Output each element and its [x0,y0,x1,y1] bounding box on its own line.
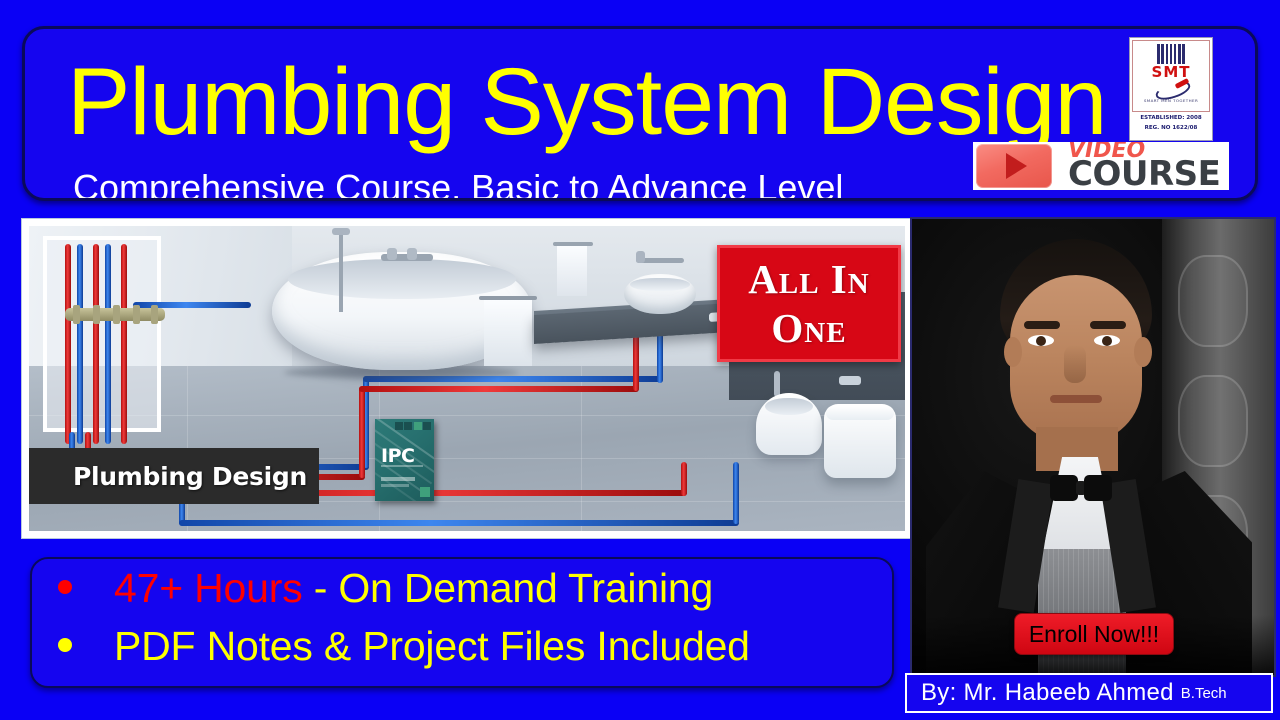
video-course-line2: COURSE [1068,159,1220,190]
bullet-dot-icon [58,580,72,594]
shower-head-icon [332,228,350,235]
sink-faucet [636,258,684,263]
smt-logo-inner: SMT SMART MEN TOGETHER [1132,40,1210,112]
feature-rest-2: PDF Notes & Project Files Included [114,623,750,669]
page-title: Plumbing System Design [67,55,1106,150]
plumbing-design-caption-text: Plumbing Design [73,462,307,491]
feature-highlight-1: 47+ Hours [114,565,303,611]
instructor-degree: B.Tech [1181,685,1227,702]
bullet-dot-icon [58,638,72,652]
play-icon [976,144,1052,188]
ipc-color-swatches [395,422,432,430]
enroll-now-button[interactable]: Enroll Now!!! [1014,613,1174,655]
bow-tie [1050,475,1112,501]
bidet [756,393,822,455]
instructor-name: By: Mr. Habeeb Ahmed [921,679,1174,707]
bidet-faucet [774,371,780,397]
features-panel: 47+ Hours - On Demand Training PDF Notes… [30,557,894,688]
smt-logo-established: ESTABLISHED: 2008 [1132,115,1210,122]
instructor-photo [910,217,1276,677]
vessel-sink [624,274,696,314]
toilet [824,404,896,478]
towel [484,300,532,366]
swoosh-icon [1149,81,1193,97]
smt-logo-registration: REG. NO 1622/08 [1132,125,1210,132]
header-panel: Plumbing System Design Comprehensive Cou… [22,26,1258,201]
list-item: PDF Notes & Project Files Included [58,623,892,681]
all-in-one-badge: All In One [717,245,901,362]
ipc-book-title: IPC [381,445,414,467]
ipc-book-cover: IPC [375,419,434,501]
manifold-bar [65,308,165,321]
barcode-icon [1151,44,1191,64]
feature-rest-1: - On Demand Training [303,565,714,611]
pipe-manifold-cabinet [43,236,161,432]
vanity-towel [557,246,587,296]
shower-pipe [339,234,343,312]
list-item: 47+ Hours - On Demand Training [58,565,892,623]
all-in-one-line1: All In [748,255,869,304]
smt-logo: SMT SMART MEN TOGETHER ESTABLISHED: 2008… [1129,37,1213,141]
feature-text-1: 47+ Hours - On Demand Training [114,565,713,612]
video-course-badge: VIDEO COURSE [973,142,1229,190]
video-course-text: VIDEO COURSE [1068,142,1220,190]
page-subtitle: Comprehensive Course, Basic to Advance L… [73,169,843,201]
smt-logo-tagline: SMART MEN TOGETHER [1144,98,1198,103]
all-in-one-line2: One [771,304,846,353]
ipc-publisher-logo [420,487,430,497]
toilet-paper-holder [839,376,861,385]
bathroom-render: All In One Plumbing Design IPC [29,226,905,531]
feature-text-2: PDF Notes & Project Files Included [114,623,750,670]
bathtub-faucet [381,254,433,261]
plumbing-design-caption: Plumbing Design [29,448,319,504]
plumbing-scene-image: All In One Plumbing Design IPC [22,219,912,538]
instructor-byline: By: Mr. Habeeb Ahmed B.Tech [905,673,1273,713]
